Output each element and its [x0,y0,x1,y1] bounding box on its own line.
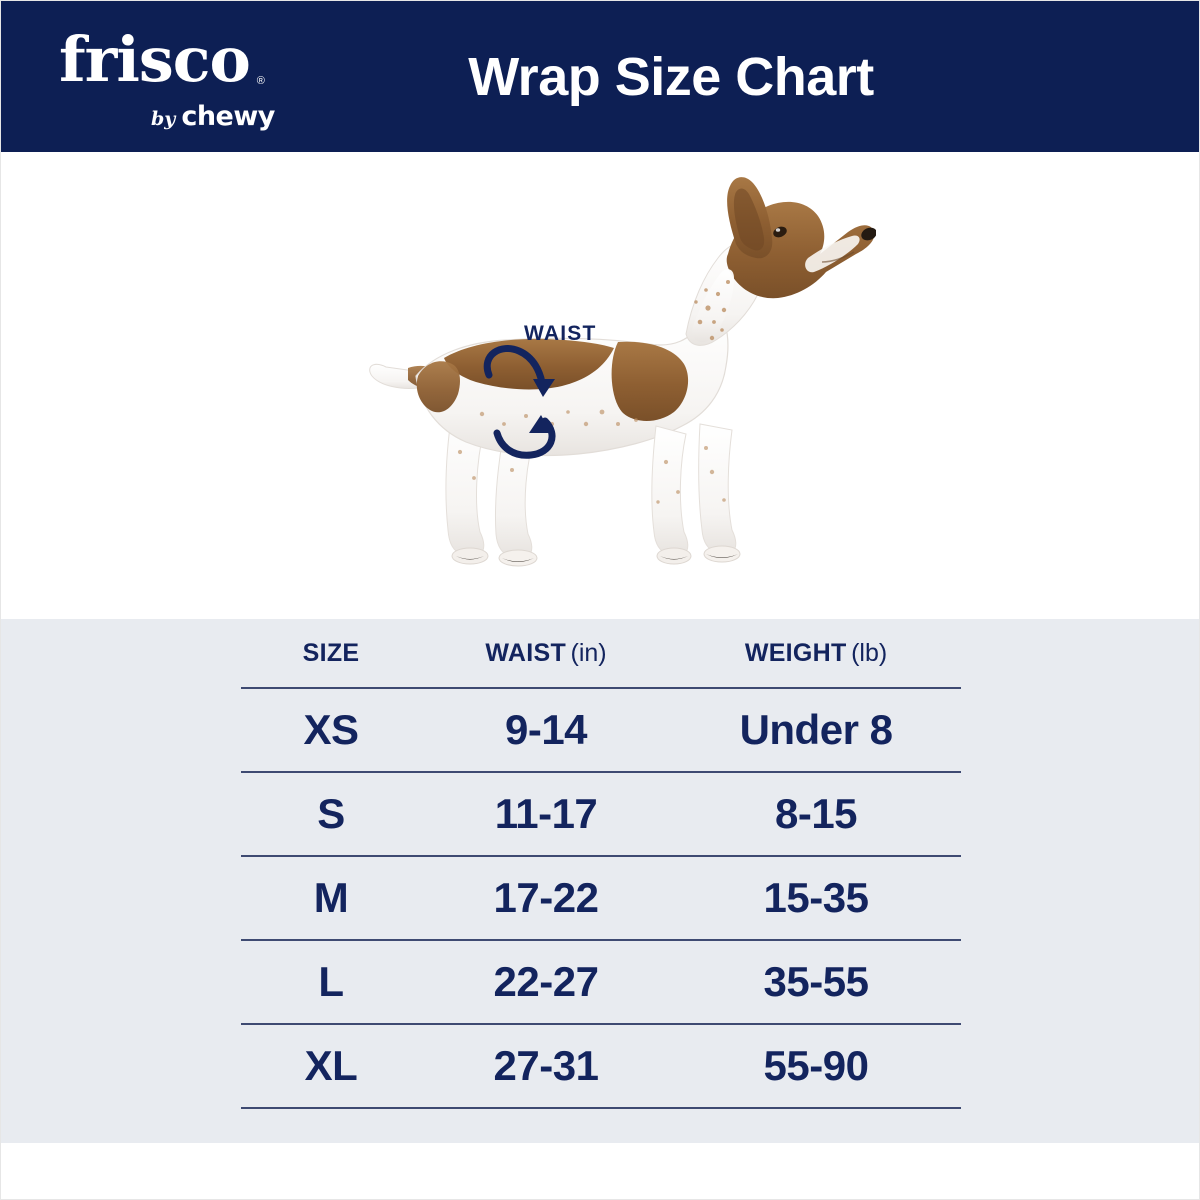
column-header-waist: WAIST (in) [421,639,671,668]
cell-weight: 15-35 [671,877,961,919]
cell-waist: 27-31 [421,1045,671,1087]
dog-figure-icon [356,162,876,582]
header-bar: frisco® by chewy Wrap Size Chart [1,1,1200,152]
cell-weight: 8-15 [671,793,961,835]
cell-size: XS [241,709,421,751]
page-title: Wrap Size Chart [1,1,1200,152]
cell-weight-value: 35-55 [764,958,869,1005]
column-header-weight-unit: (lb) [851,639,887,667]
column-header-weight: WEIGHT (lb) [671,639,961,668]
cell-size-value: M [314,874,349,921]
cell-weight: Under 8 [671,709,961,751]
cell-weight-value: Under 8 [740,706,893,753]
cell-waist-value: 9-14 [505,706,587,753]
size-chart-page: frisco® by chewy Wrap Size Chart [0,0,1200,1200]
cell-waist-value: 17-22 [494,874,599,921]
column-header-size: SIZE [241,639,421,668]
cell-weight-value: 15-35 [764,874,869,921]
dog-illustration [356,162,876,582]
cell-weight: 35-55 [671,961,961,1003]
footer-whitespace [1,1143,1200,1200]
size-table: SIZE WAIST (in) WEIGHT (lb) XS 9-14 [241,619,961,1109]
cell-size-value: S [317,790,345,837]
cell-weight-value: 8-15 [775,790,857,837]
cell-waist-value: 27-31 [494,1042,599,1089]
table-row: XL 27-31 55-90 [241,1025,961,1109]
cell-waist: 9-14 [421,709,671,751]
table-header-row: SIZE WAIST (in) WEIGHT (lb) [241,619,961,689]
cell-waist-value: 22-27 [494,958,599,1005]
cell-waist: 22-27 [421,961,671,1003]
size-table-panel: SIZE WAIST (in) WEIGHT (lb) XS 9-14 [1,619,1200,1143]
cell-weight-value: 55-90 [764,1042,869,1089]
cell-size-value: L [318,958,343,1005]
cell-size: M [241,877,421,919]
column-header-waist-label: WAIST [485,639,566,667]
cell-waist: 17-22 [421,877,671,919]
cell-waist-value: 11-17 [495,790,598,837]
table-row: XS 9-14 Under 8 [241,689,961,773]
column-header-waist-unit: (in) [571,639,607,667]
cell-waist: 11-17 [421,793,671,835]
table-row: L 22-27 35-55 [241,941,961,1025]
cell-size: XL [241,1045,421,1087]
table-row: M 17-22 15-35 [241,857,961,941]
cell-weight: 55-90 [671,1045,961,1087]
table-row: S 11-17 8-15 [241,773,961,857]
cell-size-value: XL [305,1042,358,1089]
cell-size: S [241,793,421,835]
column-header-weight-label: WEIGHT [745,639,847,667]
waist-measurement-arrows-icon [471,337,591,472]
column-header-size-label: SIZE [303,639,360,667]
cell-size: L [241,961,421,1003]
cell-size-value: XS [303,706,358,753]
illustration-panel: WAIST [1,152,1200,619]
